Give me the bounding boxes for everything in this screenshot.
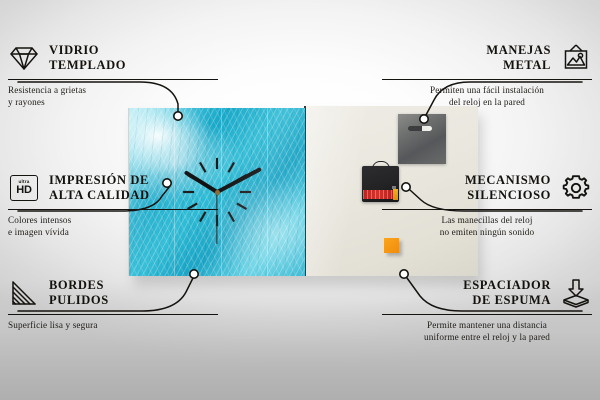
feature-title: MECANISMO SILENCIOSO bbox=[465, 173, 551, 204]
feature-divider bbox=[382, 314, 592, 315]
feature-header: MECANISMO SILENCIOSO bbox=[382, 170, 592, 206]
feature-title: MANEJAS METAL bbox=[486, 43, 551, 74]
ultra-hd-main-label: HD bbox=[16, 185, 32, 196]
feature-title: VIDRIO TEMPLADO bbox=[49, 43, 126, 74]
feature-espaciador-espuma: ESPACIADOR DE ESPUMA Permite mantener un… bbox=[382, 275, 592, 344]
diamond-icon bbox=[8, 42, 40, 74]
feature-title: IMPRESIÓN DE ALTA CALIDAD bbox=[49, 173, 150, 204]
feature-subtitle: Resistencia a grietas y rayones bbox=[8, 84, 218, 109]
hanger-keyhole-slot bbox=[408, 126, 432, 131]
ultra-hd-icon: ultra HD bbox=[8, 172, 40, 204]
foam-spacer-icon bbox=[560, 277, 592, 309]
gear-icon bbox=[560, 172, 592, 204]
feature-manejas-metal: MANEJAS METAL Permiten una fácil instala… bbox=[382, 40, 592, 109]
foam-spacer-pad bbox=[384, 238, 399, 253]
feature-divider bbox=[382, 209, 592, 210]
feature-header: VIDRIO TEMPLADO bbox=[8, 40, 218, 76]
mechanism-hanger-loop bbox=[372, 161, 390, 170]
ultra-hd-box: ultra HD bbox=[10, 175, 38, 201]
feature-bordes-pulidos: BORDES PULIDOS Superficie lisa y segura bbox=[8, 275, 218, 331]
feature-header: BORDES PULIDOS bbox=[8, 275, 218, 311]
feature-impresion-alta-calidad: ultra HD IMPRESIÓN DE ALTA CALIDAD Color… bbox=[8, 170, 218, 239]
feature-divider bbox=[8, 314, 218, 315]
feature-subtitle: Permiten una fácil instalación del reloj… bbox=[382, 84, 592, 109]
infographic-canvas: VIDRIO TEMPLADO Resistencia a grietas y … bbox=[0, 0, 600, 400]
feature-mecanismo-silencioso: MECANISMO SILENCIOSO Las manecillas del … bbox=[382, 170, 592, 239]
feature-title: ESPACIADOR DE ESPUMA bbox=[463, 278, 551, 309]
feature-subtitle: Permite mantener una distancia uniforme … bbox=[382, 319, 592, 344]
feature-subtitle: Colores intensos e imagen vívida bbox=[8, 214, 218, 239]
wall-hanging-picture-icon bbox=[560, 42, 592, 74]
feature-title: BORDES PULIDOS bbox=[49, 278, 109, 309]
feature-divider bbox=[8, 79, 218, 80]
feature-header: MANEJAS METAL bbox=[382, 40, 592, 76]
feature-vidrio-templado: VIDRIO TEMPLADO Resistencia a grietas y … bbox=[8, 40, 218, 109]
feature-header: ESPACIADOR DE ESPUMA bbox=[382, 275, 592, 311]
metal-hanger-plate bbox=[398, 114, 446, 164]
feature-subtitle: Superficie lisa y segura bbox=[8, 319, 218, 331]
feature-header: ultra HD IMPRESIÓN DE ALTA CALIDAD bbox=[8, 170, 218, 206]
polished-edge-icon bbox=[8, 277, 40, 309]
feature-subtitle: Las manecillas del reloj no emiten ningú… bbox=[382, 214, 592, 239]
feature-divider bbox=[8, 209, 218, 210]
feature-divider bbox=[382, 79, 592, 80]
